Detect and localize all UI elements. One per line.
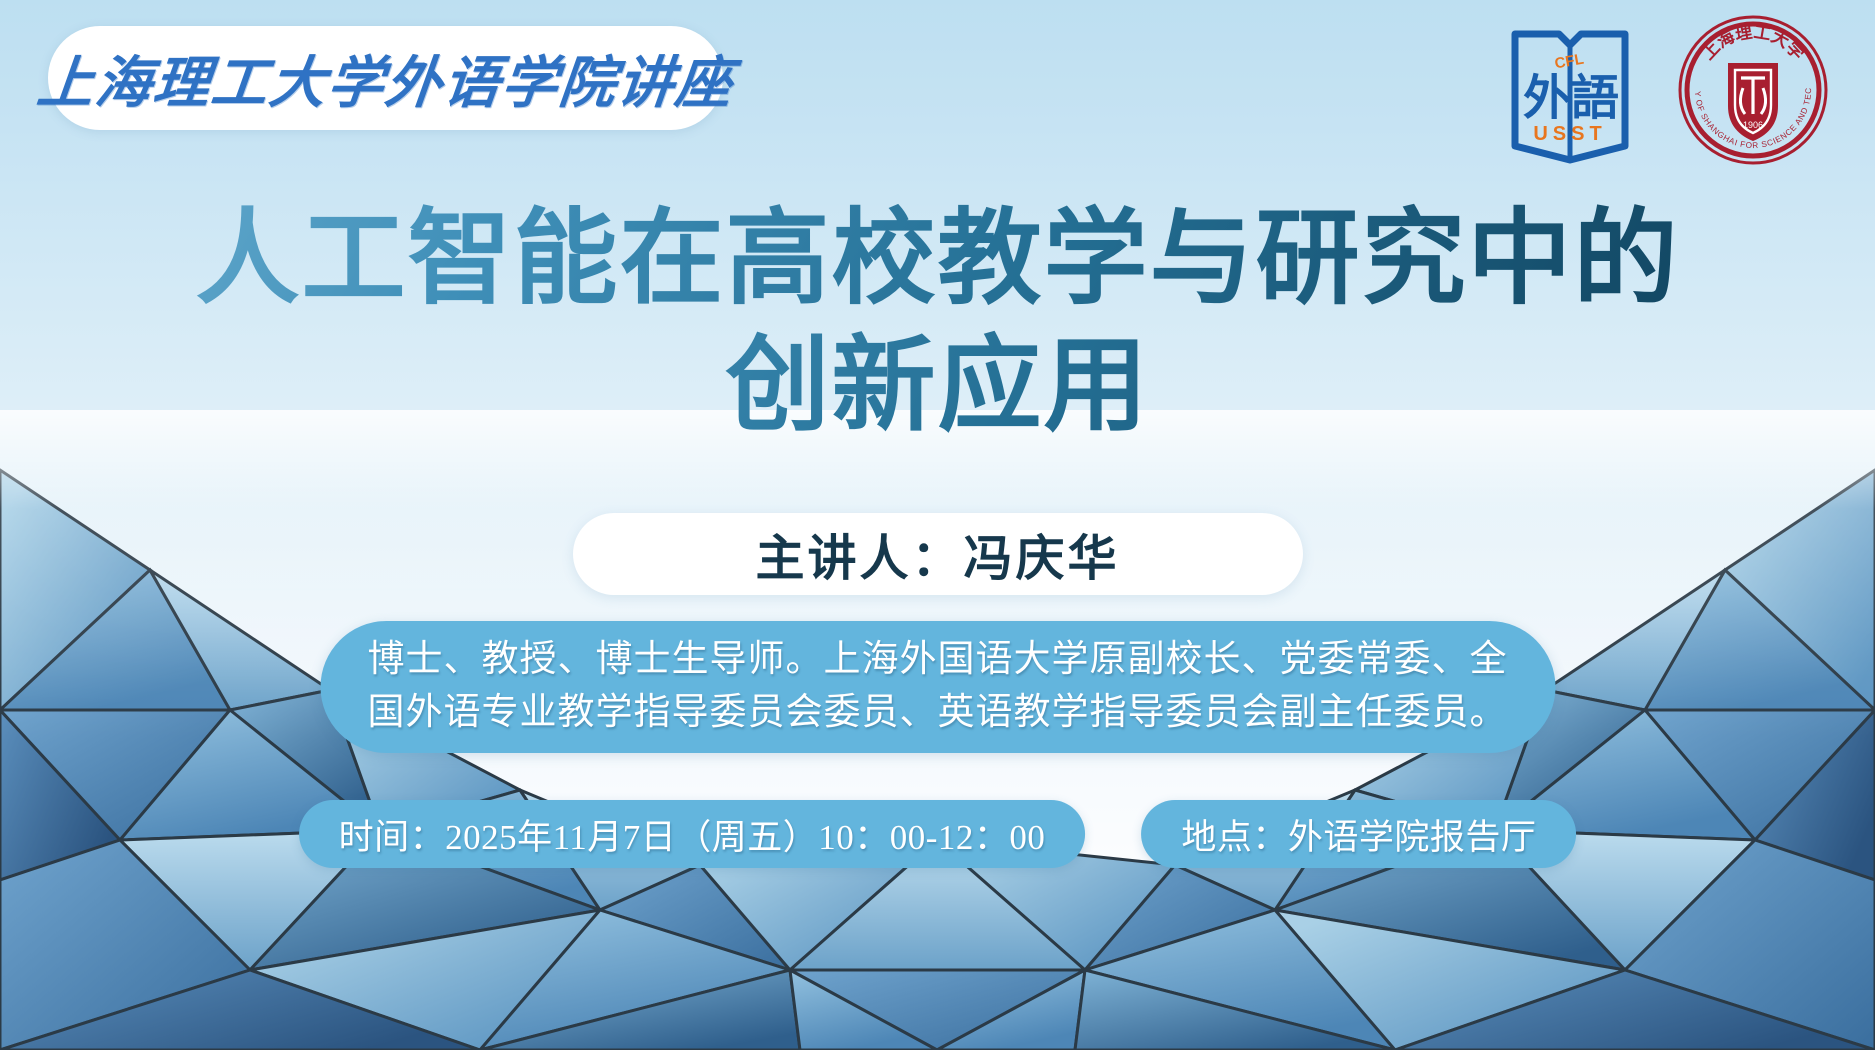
svg-text:外: 外 bbox=[1523, 72, 1571, 125]
bio-line-1: 博士、教授、博士生导师。上海外国语大学原副校长、党委常委、全 bbox=[368, 634, 1508, 687]
svg-text:1906: 1906 bbox=[1743, 120, 1763, 130]
svg-text:USST: USST bbox=[1533, 123, 1606, 145]
header-banner-pill: 上海理工大学外语学院讲座 bbox=[48, 26, 723, 130]
usst-college-of-foreign-languages-logo: 外 語 CFL USST bbox=[1507, 14, 1633, 166]
event-time-text: 时间：2025年11月7日（周五）10：00-12：00 bbox=[339, 809, 1046, 860]
event-info-row: 时间：2025年11月7日（周五）10：00-12：00 地点：外语学院报告厅 bbox=[299, 800, 1577, 868]
svg-text:語: 語 bbox=[1571, 72, 1619, 125]
speaker-bio-pill: 博士、教授、博士生导师。上海外国语大学原副校长、党委常委、全 国外语专业教学指导… bbox=[320, 621, 1555, 753]
usst-university-seal: 上海理工大学 UNIVERSITY OF SHANGHAI FOR SCIENC… bbox=[1677, 14, 1829, 166]
speaker-name-text: 主讲人：冯庆华 bbox=[755, 519, 1119, 590]
logo-group: 外 語 CFL USST 上海理工大学 bbox=[1507, 14, 1829, 166]
svg-text:CFL: CFL bbox=[1553, 51, 1585, 73]
event-time-pill: 时间：2025年11月7日（周五）10：00-12：00 bbox=[299, 800, 1086, 868]
lecture-poster: 上海理工大学外语学院讲座 外 語 CFL USST bbox=[0, 0, 1875, 1050]
event-venue-pill: 地点：外语学院报告厅 bbox=[1141, 800, 1576, 868]
header-banner-text: 上海理工大学外语学院讲座 bbox=[33, 38, 738, 119]
event-venue-text: 地点：外语学院报告厅 bbox=[1181, 809, 1536, 860]
bio-line-2: 国外语专业教学指导委员会委员、英语教学指导委员会副主任委员。 bbox=[368, 687, 1508, 740]
speaker-pill: 主讲人：冯庆华 bbox=[573, 513, 1303, 595]
